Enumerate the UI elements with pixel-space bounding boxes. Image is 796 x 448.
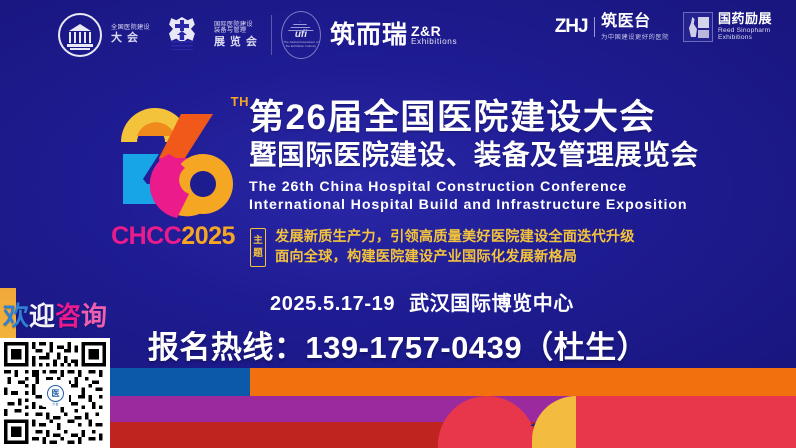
event-date: 2025.5.17-19 [270,293,395,315]
conference-emblem-large-text: 大会 [111,33,150,45]
expo-emblem-small-text-2: 装备与管理 [214,28,262,35]
event-venue: 武汉国际博览中心 [409,293,574,315]
partner-logo-bar: 全国医院建设 大会 国际医院建设 装备与管理 展览会 ufi The Globa… [0,0,796,68]
zhuyitai-logo: ZHJ 筑医台 为中国建设更好的医院 [555,13,669,41]
poster-root: 全国医院建设 大会 国际医院建设 装备与管理 展览会 ufi The Globa… [0,0,796,448]
theme-badge: 主 题 [250,228,266,267]
event-date-venue: 2025.5.17-19武汉国际博览中心 [270,287,574,316]
qr-center-label: 大会 [52,402,59,406]
expo-emblem-text: 国际医院建设 装备与管理 展览会 [214,22,262,49]
title-english-line1: The 26th China Hospital Construction Con… [249,178,789,197]
reed-english-line1: Reed Sinopharm [718,27,772,34]
band-block-bright-red [572,396,796,448]
registration-hotline: 报名热线：139-1757-0439（杜生） [0,322,796,367]
conference-emblem-text: 全国医院建设 大会 [111,25,150,45]
anniversary-26-logo: TH [103,92,243,222]
welcome-char-3: 咨 [55,301,81,331]
chcc-brand-text: CHCC2025 [98,222,248,251]
zr-chinese-name: 筑而瑞 [330,23,408,48]
theme-badge-char1: 主 [253,235,263,247]
title-block: 第26届全国医院建设大会 暨国际医院建设、装备及管理展览会 The 26th C… [249,98,789,215]
left-logo-group: 全国医院建设 大会 国际医院建设 装备与管理 展览会 ufi The Globa… [58,11,457,59]
anniversary-26-logo-icon [103,92,243,222]
theme-badge-char2: 题 [253,248,263,260]
conference-emblem-small-text: 全国医院建设 [111,25,150,32]
title-english-line2: International Hospital Build and Infrast… [249,196,789,215]
welcome-char-1: 欢 [3,301,29,331]
reed-chinese-name: 国药励展 [718,12,772,27]
zr-exhibitions-logo: 筑而瑞 Z&R Exhibitions [330,23,457,48]
reed-english-line2: Exhibitions [718,34,772,41]
zhj-mark: ZHJ [555,16,588,38]
title-chinese-line2: 暨国际医院建设、装备及管理展览会 [249,139,789,171]
band-segment-orange [250,368,796,396]
ufi-oval-badge-icon: ufi The Global Association of the Exhibi… [281,11,321,59]
anniversary-superscript: TH [231,94,249,109]
hospital-building-circle-emblem-icon [58,13,102,57]
zhj-chinese-name: 筑医台 [601,13,669,31]
band-row-top [0,368,796,396]
chcc-letters: CHCC [111,222,181,250]
title-chinese-line1: 第26届全国医院建设大会 [249,98,789,137]
theme-line1: 发展新质生产力，引领高质量美好医院建设全面迭代升级 [275,228,635,248]
theme-row: 主 题 发展新质生产力，引领高质量美好医院建设全面迭代升级 面向全球，构建医院建… [250,228,635,267]
ufi-subtitle: The Global Association of the Exhibition… [283,41,319,49]
logo-divider [271,15,272,55]
zr-english-sub: Exhibitions [411,38,457,47]
bottom-color-band [0,368,796,448]
organization-seal-icon: 医 大会 [42,380,69,407]
welcome-text: 欢迎咨询 [3,296,107,333]
expo-emblem-large-text: 展览会 [214,37,262,49]
zhj-divider [594,17,596,37]
snowflake-medical-emblem-icon [159,13,205,57]
zhj-tagline: 为中国建设更好的医院 [601,34,669,41]
theme-lines: 发展新质生产力，引领高质量美好医院建设全面迭代升级 面向全球，构建医院建设产业国… [275,228,635,267]
reed-sinopharm-mark-icon [683,12,713,42]
welcome-char-4: 询 [81,301,107,331]
welcome-char-2: 迎 [29,301,55,331]
reed-sinopharm-logo: 国药励展 Reed Sinopharm Exhibitions [683,12,772,42]
theme-line2: 面向全球，构建医院建设产业国际化发展新格局 [275,248,635,268]
chcc-year: 2025 [181,222,235,250]
right-logo-group: ZHJ 筑医台 为中国建设更好的医院 国药励展 Reed Sinopharm E… [555,12,772,42]
